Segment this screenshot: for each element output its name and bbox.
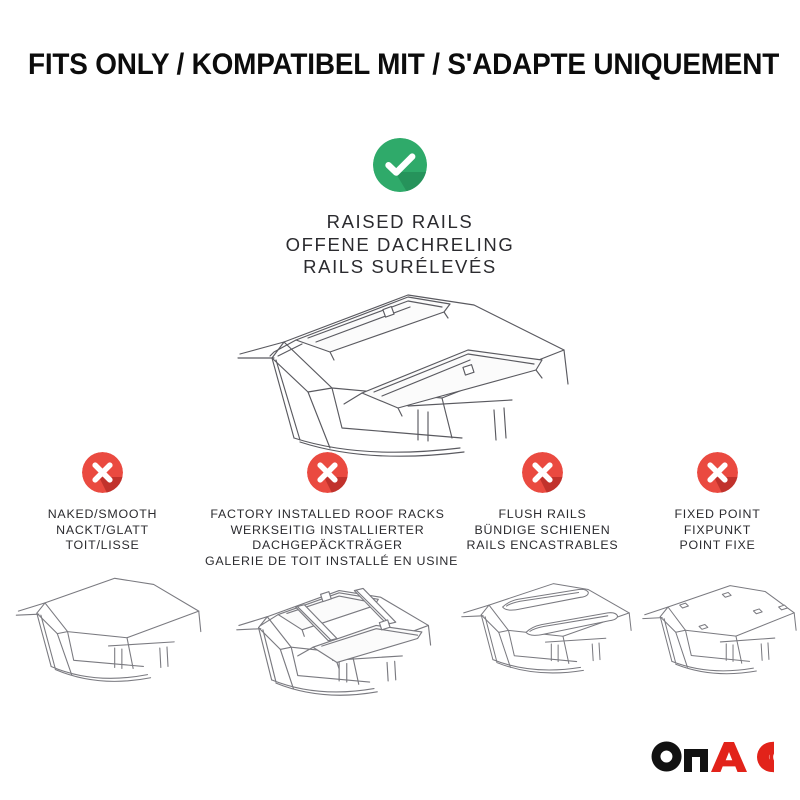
incompatible-labels: FACTORY INSTALLED ROOF RACKS WERKSEITIG …	[205, 507, 450, 569]
label-line-2: WERKSEITIG INSTALLIERTER	[205, 523, 450, 539]
car-roof-raised-rails-illustration	[212, 288, 592, 468]
car-roof-factory-roof-racks-illustration	[205, 571, 470, 713]
car-roof-flush-rails-illustration	[450, 572, 639, 689]
incompatible-item-factory-roof-racks: FACTORY INSTALLED ROOF RACKS WERKSEITIG …	[205, 452, 450, 713]
compatible-label-en: RAISED RAILS	[0, 211, 800, 234]
label-line-3: RAILS ENCASTRABLES	[450, 538, 635, 554]
incompatible-item-flush-rails: FLUSH RAILS BÜNDIGE SCHIENEN RAILS ENCAS…	[450, 452, 635, 688]
omac-letter-m-right	[694, 749, 708, 772]
x-circle-icon	[522, 452, 563, 493]
incompatible-labels: NAKED/SMOOTH NACKT/GLATT TOIT/LISSE	[0, 507, 205, 554]
label-line-2: BÜNDIGE SCHIENEN	[450, 523, 635, 539]
label-line-1: FLUSH RAILS	[450, 507, 635, 523]
x-circle-icon	[697, 452, 738, 493]
header: FITS ONLY / KOMPATIBEL MIT / S'ADAPTE UN…	[0, 48, 800, 82]
label-line-1: FIXED POINT	[635, 507, 800, 523]
label-line-1: FACTORY INSTALLED ROOF RACKS	[205, 507, 450, 523]
omac-letter-o	[652, 742, 682, 772]
compatible-section: RAISED RAILS OFFENE DACHRELING RAILS SUR…	[0, 138, 800, 279]
compatible-label-fr: RAILS SURÉLEVÉS	[0, 256, 800, 279]
label-line-4: GALERIE DE TOIT INSTALLÉ EN USINE	[205, 554, 450, 570]
label-line-3: TOIT/LISSE	[0, 538, 205, 554]
incompatible-labels: FIXED POINT FIXPUNKT POINT FIXE	[635, 507, 800, 554]
incompatible-item-naked-smooth: NAKED/SMOOTH NACKT/GLATT TOIT/LISSE	[0, 452, 205, 699]
x-circle-icon	[307, 452, 348, 493]
omac-logo	[650, 740, 774, 774]
incompatible-labels: FLUSH RAILS BÜNDIGE SCHIENEN RAILS ENCAS…	[450, 507, 635, 554]
label-line-1: NAKED/SMOOTH	[0, 507, 205, 523]
page-title: FITS ONLY / KOMPATIBEL MIT / S'ADAPTE UN…	[28, 48, 772, 82]
label-line-2: FIXPUNKT	[635, 523, 800, 539]
x-circle-icon	[82, 452, 123, 493]
omac-letter-a	[711, 742, 747, 772]
car-roof-naked-smooth-illustration	[0, 566, 213, 699]
compatible-label-de: OFFENE DACHRELING	[0, 234, 800, 257]
incompatible-item-fixed-point: FIXED POINT FIXPUNKT POINT FIXE	[635, 452, 800, 690]
compatible-labels: RAISED RAILS OFFENE DACHRELING RAILS SUR…	[0, 211, 800, 279]
label-line-2: NACKT/GLATT	[0, 523, 205, 539]
incompatible-section: NAKED/SMOOTH NACKT/GLATT TOIT/LISSE	[0, 452, 800, 713]
check-circle-icon	[373, 138, 427, 192]
label-line-3: DACHGEPÄCKTRÄGER	[205, 538, 450, 554]
car-roof-fixed-point-illustration	[635, 574, 800, 690]
label-line-3: POINT FIXE	[635, 538, 800, 554]
